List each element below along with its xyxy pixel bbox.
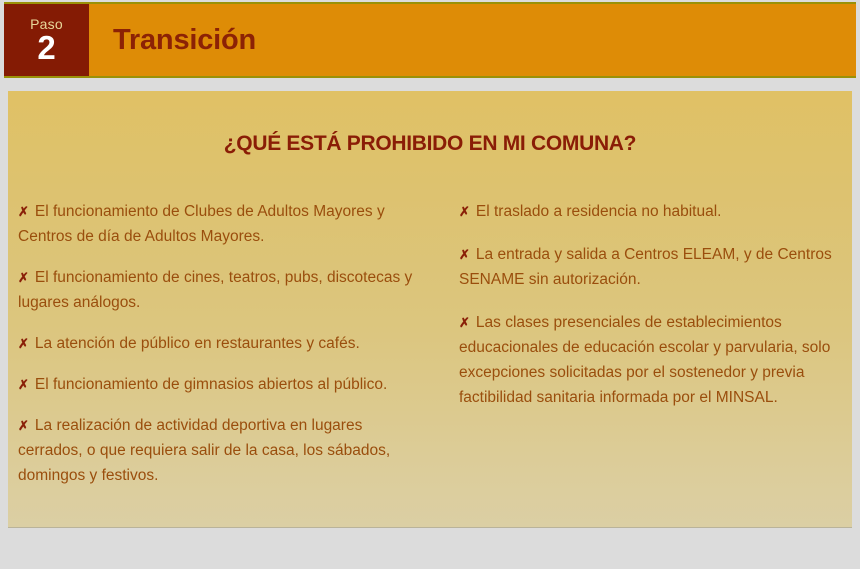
cross-mark-icon: ✗	[459, 247, 470, 262]
cross-mark-icon: ✗	[18, 204, 29, 219]
prohibition-item-text: Las clases presenciales de establecimien…	[459, 314, 830, 406]
prohibitions-right-column: ✗El traslado a residencia no habitual.✗L…	[433, 183, 852, 504]
prohibition-item: ✗El funcionamiento de gimnasios abiertos…	[18, 372, 421, 397]
cross-mark-icon: ✗	[18, 418, 29, 433]
page-title: Transición	[113, 24, 256, 57]
header-title-zone: Transición	[89, 4, 856, 76]
prohibition-item: ✗El funcionamiento de cines, teatros, pu…	[18, 265, 421, 315]
prohibitions-left-column: ✗El funcionamiento de Clubes de Adultos …	[8, 183, 433, 504]
cross-mark-icon: ✗	[18, 336, 29, 351]
prohibition-item-text: El funcionamiento de Clubes de Adultos M…	[18, 203, 385, 245]
cross-mark-icon: ✗	[459, 204, 470, 219]
prohibition-item-text: El funcionamiento de cines, teatros, pub…	[18, 269, 412, 311]
prohibition-item-text: La realización de actividad deportiva en…	[18, 417, 390, 484]
prohibition-item: ✗Las clases presenciales de establecimie…	[459, 310, 838, 410]
prohibition-item-text: El funcionamiento de gimnasios abiertos …	[35, 376, 387, 393]
prohibition-item-text: La atención de público en restaurantes y…	[35, 335, 360, 352]
panel-heading: ¿QUÉ ESTÁ PROHIBIDO EN MI COMUNA?	[8, 91, 852, 156]
prohibition-item: ✗La entrada y salida a Centros ELEAM, y …	[459, 242, 838, 292]
prohibition-item: ✗La atención de público en restaurantes …	[18, 331, 421, 356]
cross-mark-icon: ✗	[18, 270, 29, 285]
prohibitions-columns: ✗El funcionamiento de Clubes de Adultos …	[8, 183, 852, 504]
step-header-bar: Paso 2 Transición	[4, 2, 856, 78]
prohibition-item: ✗El funcionamiento de Clubes de Adultos …	[18, 199, 421, 249]
prohibition-item: ✗La realización de actividad deportiva e…	[18, 413, 421, 488]
prohibition-item-text: El traslado a residencia no habitual.	[476, 203, 722, 220]
cross-mark-icon: ✗	[459, 315, 470, 330]
step-number-block: Paso 2	[4, 4, 89, 76]
prohibition-item: ✗El traslado a residencia no habitual.	[459, 199, 838, 224]
prohibition-item-text: La entrada y salida a Centros ELEAM, y d…	[459, 246, 832, 288]
cross-mark-icon: ✗	[18, 377, 29, 392]
step-number: 2	[37, 31, 55, 65]
prohibitions-panel: ¿QUÉ ESTÁ PROHIBIDO EN MI COMUNA? ✗El fu…	[8, 91, 852, 528]
